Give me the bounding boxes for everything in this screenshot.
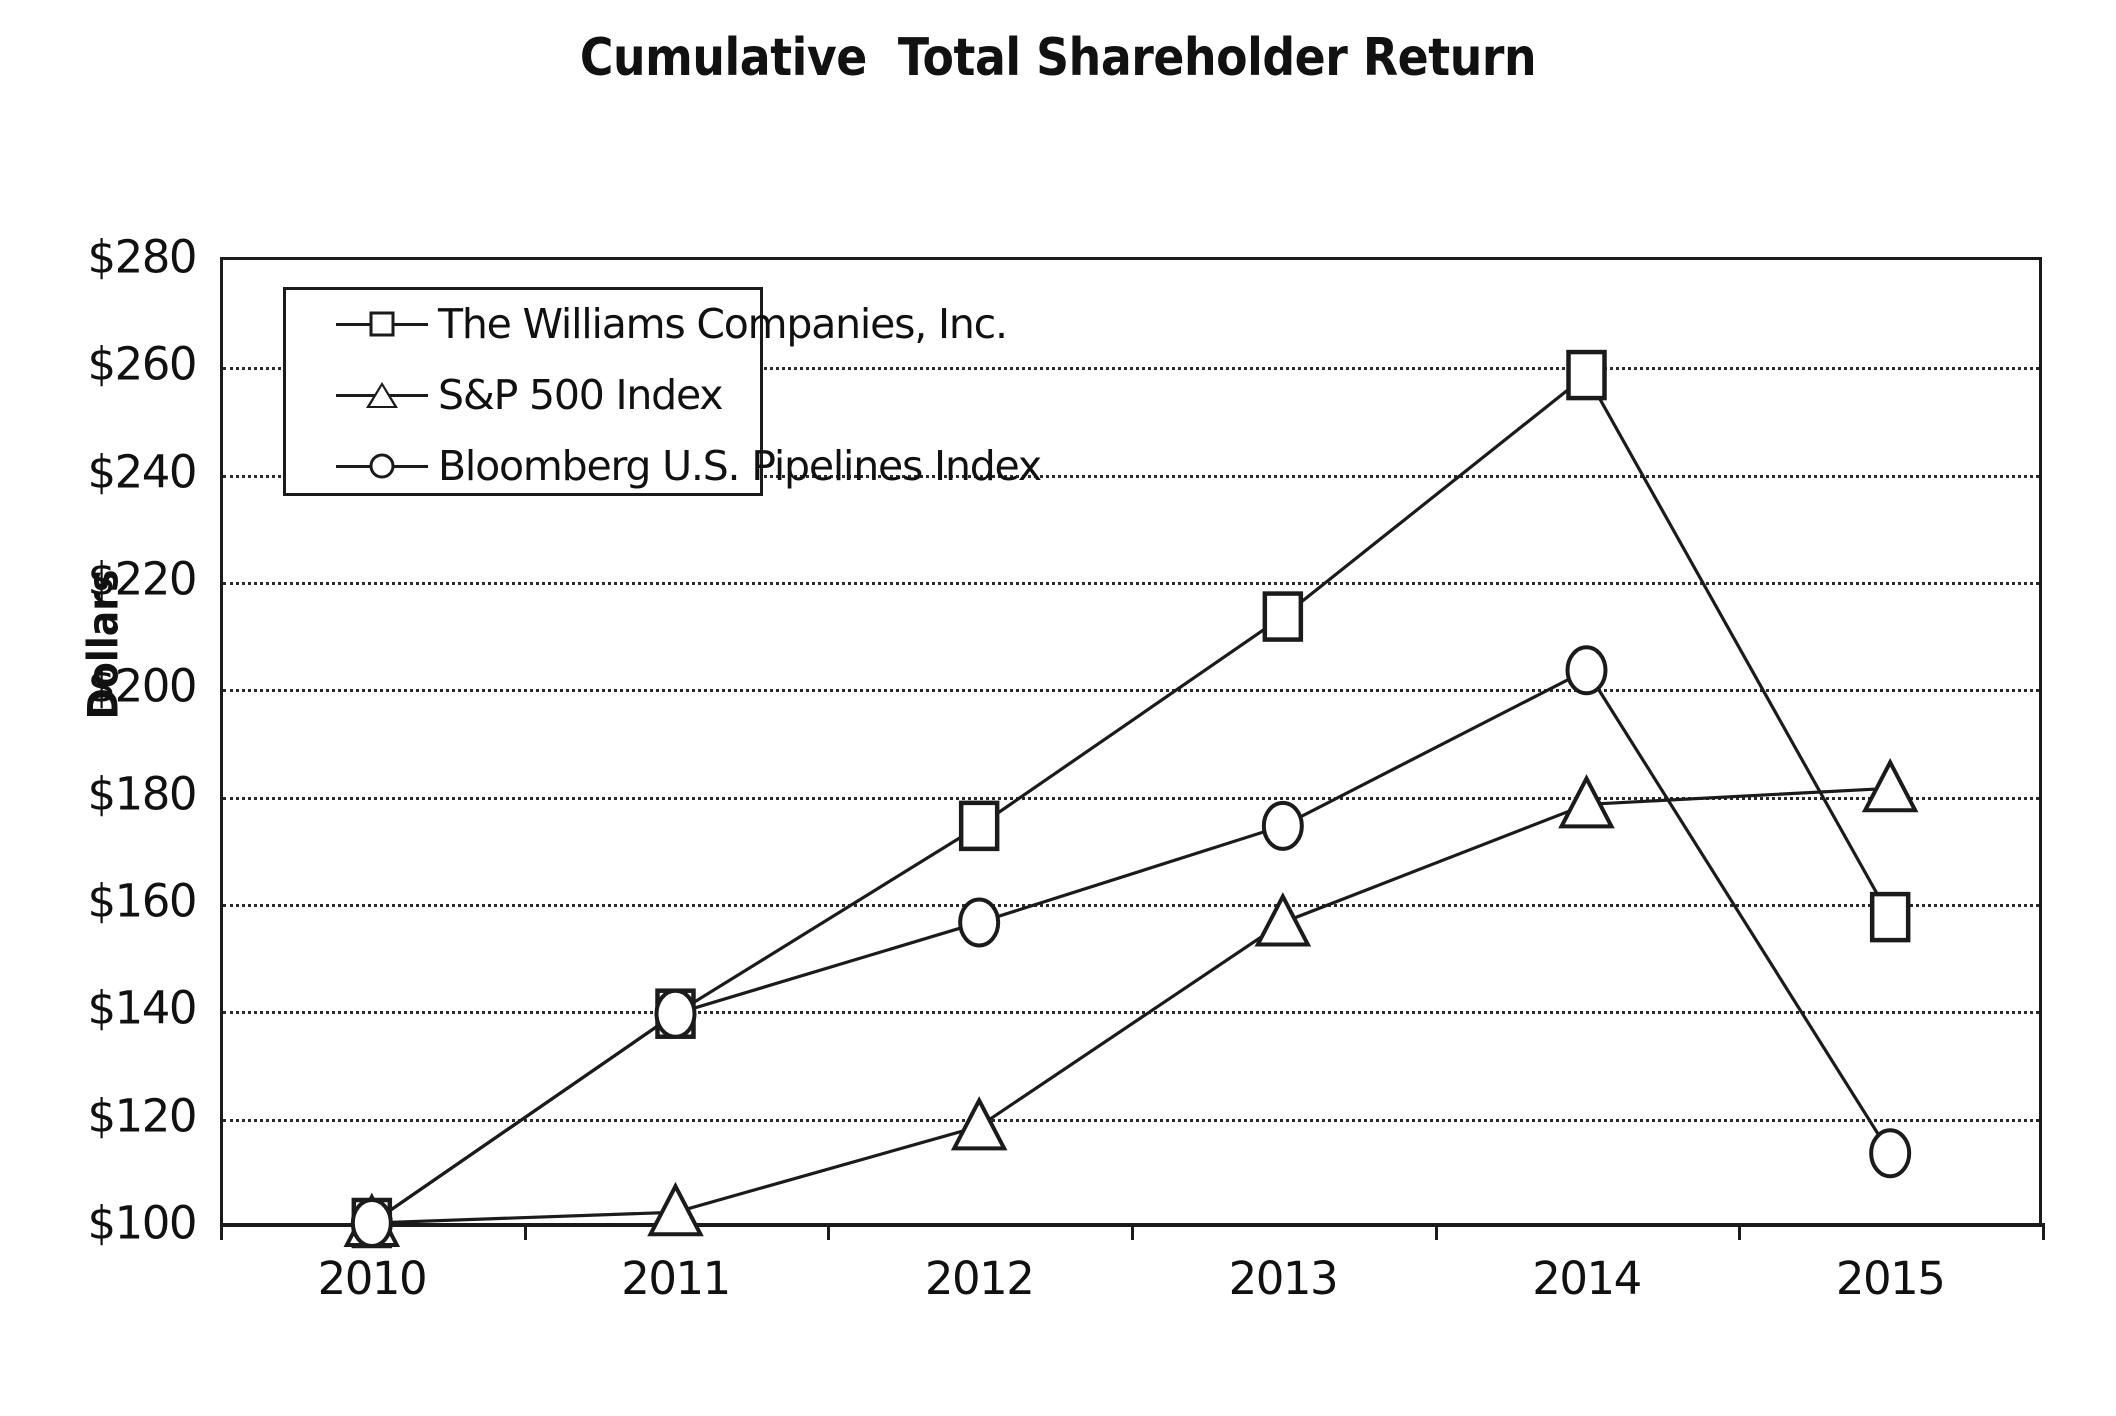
- y-tick-label: $180: [0, 767, 196, 820]
- chart-root: Cumulative Total Shareholder Return Doll…: [0, 0, 2116, 1416]
- gridline: [223, 689, 2039, 692]
- legend-marker-triangle: [336, 375, 428, 415]
- x-tick-mark: [524, 1223, 527, 1240]
- gridline: [223, 1119, 2039, 1122]
- y-tick-label: $220: [0, 553, 196, 606]
- y-tick-label: $280: [0, 231, 196, 284]
- legend-label-2: Bloomberg U.S. Pipelines Index: [438, 442, 1041, 490]
- x-tick-label: 2013: [1229, 1252, 1338, 1305]
- legend-marker-circle: [336, 446, 428, 486]
- legend-item-1: S&P 500 Index: [286, 367, 760, 423]
- x-tick-mark: [1435, 1223, 1438, 1240]
- legend-label-1: S&P 500 Index: [438, 371, 722, 419]
- x-tick-label: 2014: [1532, 1252, 1641, 1305]
- y-tick-label: $120: [0, 1089, 196, 1142]
- chart-legend: The Williams Companies, Inc. S&P 500 Ind…: [283, 287, 763, 496]
- chart-title: Cumulative Total Shareholder Return: [127, 28, 1989, 88]
- x-tick-label: 2010: [318, 1252, 427, 1305]
- y-tick-label: $200: [0, 660, 196, 713]
- x-tick-mark: [2042, 1223, 2045, 1240]
- gridline: [223, 582, 2039, 585]
- x-tick-label: 2011: [621, 1252, 730, 1305]
- legend-item-0: The Williams Companies, Inc.: [286, 296, 760, 352]
- y-axis-tick-labels: $280$260$240$220$200$180$160$140$120$100: [0, 0, 196, 1416]
- y-tick-label: $140: [0, 982, 196, 1035]
- gridline: [223, 1011, 2039, 1014]
- x-tick-mark: [1131, 1223, 1134, 1240]
- x-tick-mark: [1738, 1223, 1741, 1240]
- x-tick-mark: [827, 1223, 830, 1240]
- y-tick-label: $260: [0, 338, 196, 391]
- gridline: [223, 904, 2039, 907]
- y-tick-label: $160: [0, 875, 196, 928]
- legend-label-0: The Williams Companies, Inc.: [438, 300, 1007, 348]
- legend-item-2: Bloomberg U.S. Pipelines Index: [286, 438, 760, 494]
- x-tick-label: 2015: [1836, 1252, 1945, 1305]
- x-tick-label: 2012: [925, 1252, 1034, 1305]
- x-tick-mark: [220, 1223, 223, 1240]
- gridline: [223, 797, 2039, 800]
- y-tick-label: $240: [0, 445, 196, 498]
- y-tick-label: $100: [0, 1197, 196, 1250]
- legend-marker-square: [336, 304, 428, 344]
